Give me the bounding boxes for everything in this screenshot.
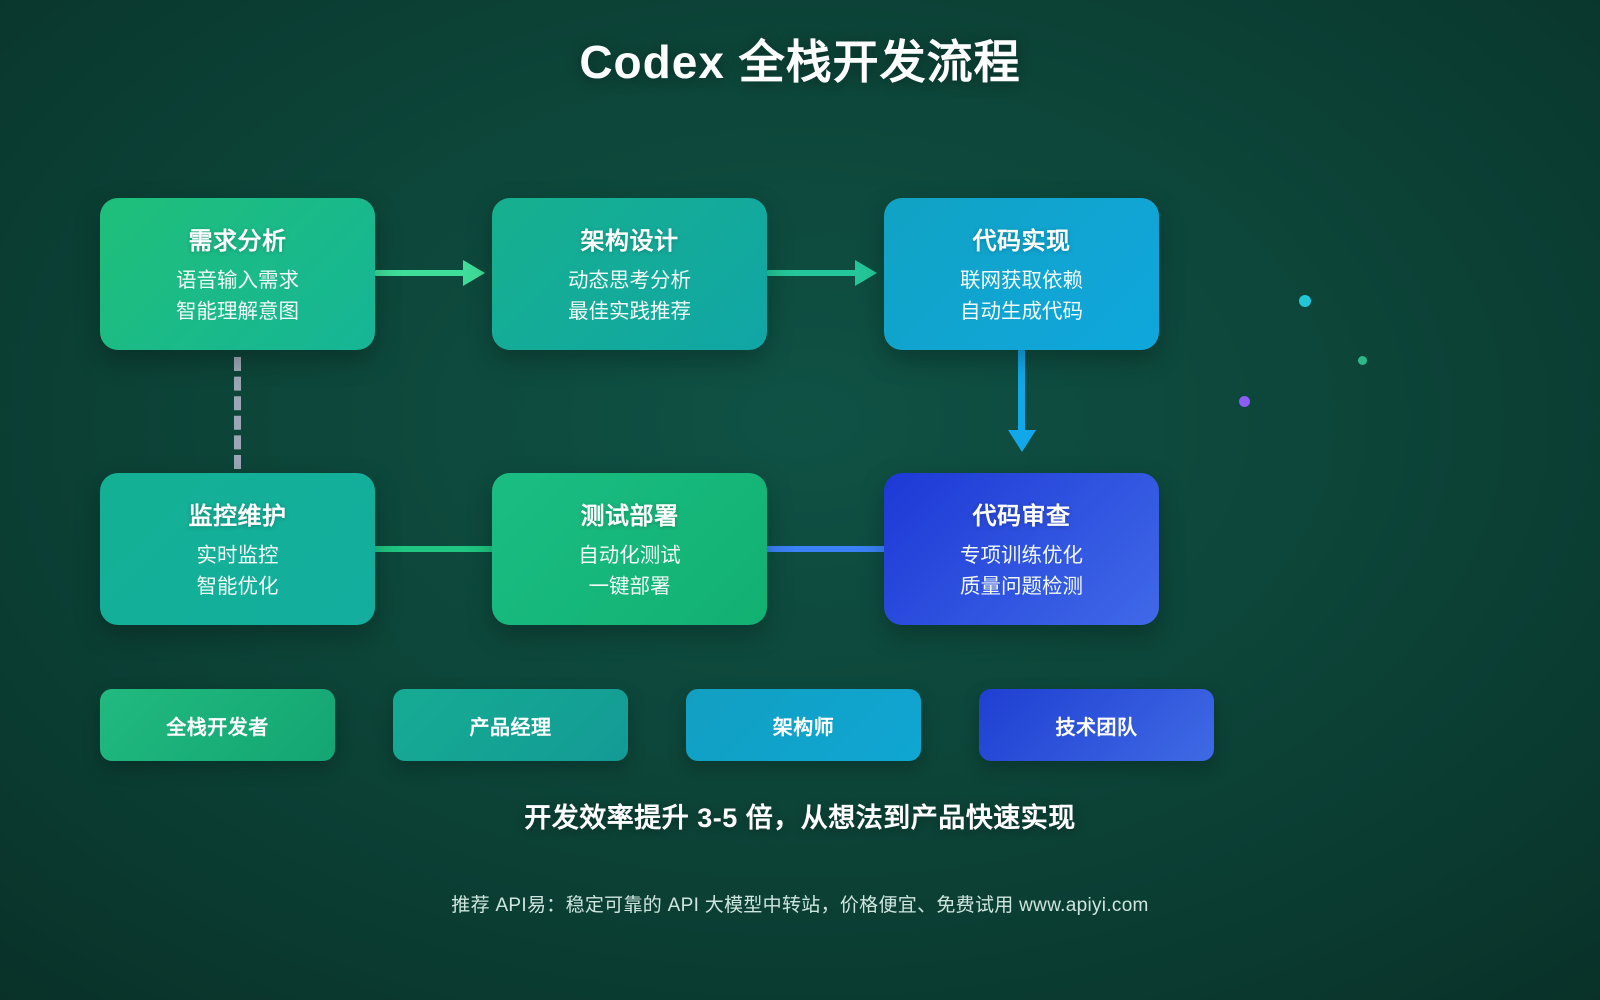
card-detail-line: 智能理解意图 bbox=[176, 296, 299, 327]
role-tag-architect[interactable]: 架构师 bbox=[686, 689, 921, 761]
flow-card-architecture-design[interactable]: 架构设计 动态思考分析 最佳实践推荐 bbox=[492, 198, 767, 350]
card-detail-line: 实时监控 bbox=[197, 540, 279, 571]
role-tag-tech-team[interactable]: 技术团队 bbox=[979, 689, 1214, 761]
card-title: 监控维护 bbox=[189, 496, 287, 531]
connector-line bbox=[1018, 350, 1025, 433]
role-tag-label: 架构师 bbox=[773, 711, 835, 740]
role-tag-label: 技术团队 bbox=[1056, 711, 1138, 740]
flow-card-code-implementation[interactable]: 代码实现 联网获取依赖 自动生成代码 bbox=[884, 198, 1159, 350]
role-tag-label: 全栈开发者 bbox=[166, 711, 269, 740]
green-dot bbox=[1358, 356, 1367, 365]
arrow-head-right-icon bbox=[463, 260, 485, 286]
card-title: 代码审查 bbox=[973, 496, 1071, 531]
role-tag-product-manager[interactable]: 产品经理 bbox=[393, 689, 628, 761]
arrow-head-down-icon bbox=[1008, 430, 1036, 452]
tagline: 开发效率提升 3-5 倍，从想法到产品快速实现 bbox=[0, 796, 1600, 835]
arrow-head-right-icon bbox=[855, 260, 877, 286]
cyan-dot bbox=[1299, 295, 1311, 307]
card-detail-line: 专项训练优化 bbox=[960, 540, 1083, 571]
connector-line bbox=[373, 546, 495, 552]
card-detail-line: 自动生成代码 bbox=[960, 296, 1083, 327]
card-detail-line: 智能优化 bbox=[197, 571, 279, 602]
flow-card-monitoring-maintenance[interactable]: 监控维护 实时监控 智能优化 bbox=[100, 473, 375, 625]
card-detail-line: 最佳实践推荐 bbox=[568, 296, 691, 327]
page-title: Codex 全栈开发流程 bbox=[0, 26, 1600, 92]
role-tag-fullstack-developer[interactable]: 全栈开发者 bbox=[100, 689, 335, 761]
connector-line bbox=[375, 270, 465, 276]
card-title: 架构设计 bbox=[581, 221, 679, 256]
flow-card-test-deployment[interactable]: 测试部署 自动化测试 一键部署 bbox=[492, 473, 767, 625]
role-tag-label: 产品经理 bbox=[470, 711, 552, 740]
card-detail-line: 联网获取依赖 bbox=[960, 265, 1083, 296]
poster-canvas: Codex 全栈开发流程 需求分析 语音输入需求 智能理解意图 架构设计 动态思… bbox=[0, 0, 1600, 1000]
connector-line bbox=[765, 546, 887, 552]
card-detail-line: 语音输入需求 bbox=[176, 265, 299, 296]
card-detail-line: 自动化测试 bbox=[578, 540, 681, 571]
card-title: 测试部署 bbox=[581, 496, 679, 531]
flow-card-requirement-analysis[interactable]: 需求分析 语音输入需求 智能理解意图 bbox=[100, 198, 375, 350]
dashed-line bbox=[234, 357, 241, 469]
card-detail-line: 一键部署 bbox=[589, 571, 671, 602]
footer-note: 推荐 API易：稳定可靠的 API 大模型中转站，价格便宜、免费试用 www.a… bbox=[0, 890, 1600, 917]
card-title: 代码实现 bbox=[973, 221, 1071, 256]
card-title: 需求分析 bbox=[189, 221, 287, 256]
flow-card-code-review[interactable]: 代码审查 专项训练优化 质量问题检测 bbox=[884, 473, 1159, 625]
purple-dot bbox=[1239, 396, 1250, 407]
connector-line bbox=[767, 270, 857, 276]
card-detail-line: 质量问题检测 bbox=[960, 571, 1083, 602]
card-detail-line: 动态思考分析 bbox=[568, 265, 691, 296]
